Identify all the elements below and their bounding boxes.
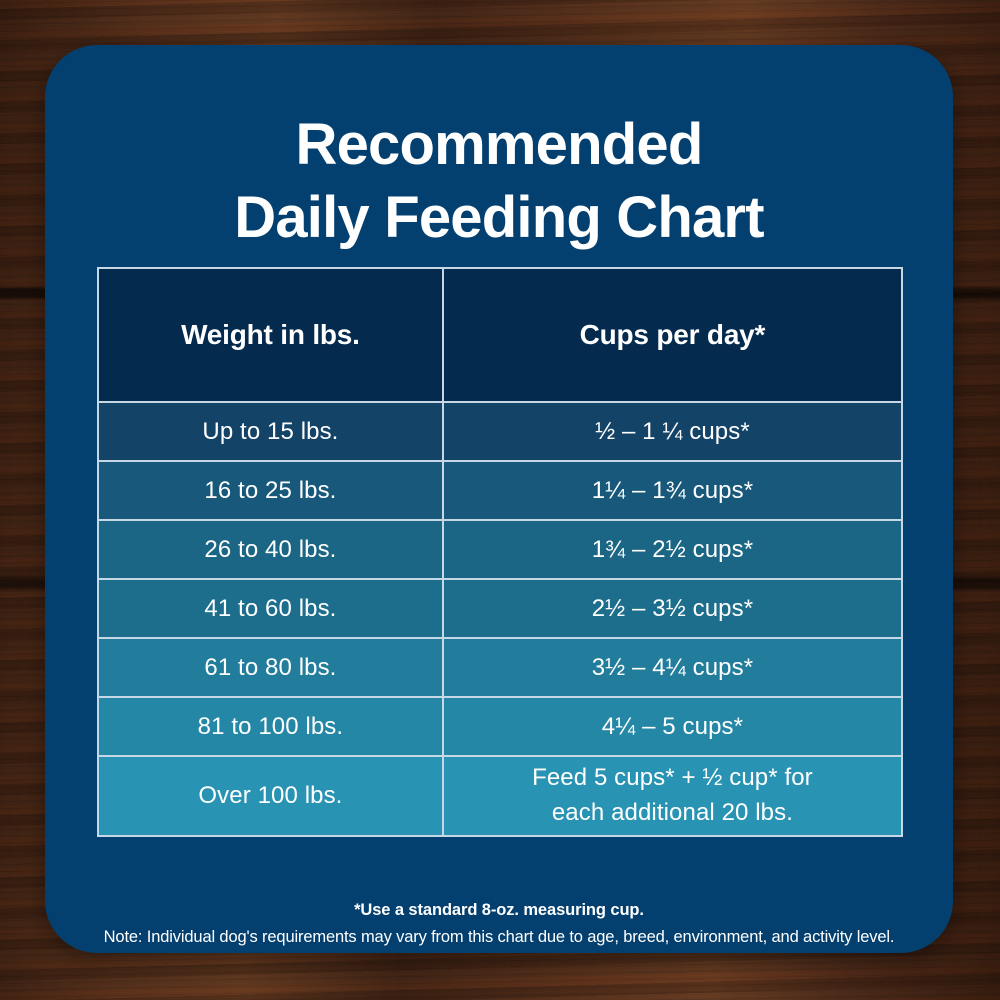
cell-weight: 26 to 40 lbs. — [99, 521, 444, 580]
feeding-chart-card: Recommended Daily Feeding Chart Weight i… — [45, 45, 953, 953]
table-body: Up to 15 lbs. ½ – 1 ¼ cups* 16 to 25 lbs… — [99, 403, 901, 835]
column-header-cups: Cups per day* — [444, 269, 901, 403]
cell-weight: Over 100 lbs. — [99, 757, 444, 835]
cell-cups: 3½ – 4¼ cups* — [444, 639, 901, 698]
page-title: Recommended Daily Feeding Chart — [45, 45, 953, 254]
table-header-row: Weight in lbs. Cups per day* — [99, 269, 901, 403]
cell-weight: 16 to 25 lbs. — [99, 462, 444, 521]
table-row: Up to 15 lbs. ½ – 1 ¼ cups* — [99, 403, 901, 462]
table-row: 26 to 40 lbs. 1¾ – 2½ cups* — [99, 521, 901, 580]
page-title-line-1: Recommended — [85, 108, 913, 181]
footnote-note-line-2: Adjust food as required to maintain opti… — [69, 951, 929, 953]
cell-cups: 1¼ – 1¾ cups* — [444, 462, 901, 521]
table-row: 61 to 80 lbs. 3½ – 4¼ cups* — [99, 639, 901, 698]
cell-cups: Feed 5 cups* + ½ cup* for each additiona… — [444, 757, 901, 835]
cell-cups: ½ – 1 ¼ cups* — [444, 403, 901, 462]
cell-cups: 1¾ – 2½ cups* — [444, 521, 901, 580]
cell-weight: 81 to 100 lbs. — [99, 698, 444, 757]
footnote-note-line-1: Note: Individual dog's requirements may … — [69, 925, 929, 951]
table-row: 16 to 25 lbs. 1¼ – 1¾ cups* — [99, 462, 901, 521]
table-row: 41 to 60 lbs. 2½ – 3½ cups* — [99, 580, 901, 639]
feeding-table-container: Weight in lbs. Cups per day* Up to 15 lb… — [97, 267, 903, 837]
page-title-line-2: Daily Feeding Chart — [85, 181, 913, 254]
feeding-table: Weight in lbs. Cups per day* Up to 15 lb… — [97, 267, 903, 837]
column-header-weight: Weight in lbs. — [99, 269, 444, 403]
cell-cups-line-1: Feed 5 cups* + ½ cup* for — [456, 761, 889, 796]
cell-weight: Up to 15 lbs. — [99, 403, 444, 462]
table-row: Over 100 lbs. Feed 5 cups* + ½ cup* for … — [99, 757, 901, 835]
footnote-measuring-cup: *Use a standard 8-oz. measuring cup. — [69, 901, 929, 920]
cell-weight: 41 to 60 lbs. — [99, 580, 444, 639]
cell-cups-line-2: each additional 20 lbs. — [456, 796, 889, 831]
table-row: 81 to 100 lbs. 4¼ – 5 cups* — [99, 698, 901, 757]
cell-cups: 2½ – 3½ cups* — [444, 580, 901, 639]
cell-weight: 61 to 80 lbs. — [99, 639, 444, 698]
cell-cups: 4¼ – 5 cups* — [444, 698, 901, 757]
footnotes: *Use a standard 8-oz. measuring cup. Not… — [45, 901, 953, 953]
